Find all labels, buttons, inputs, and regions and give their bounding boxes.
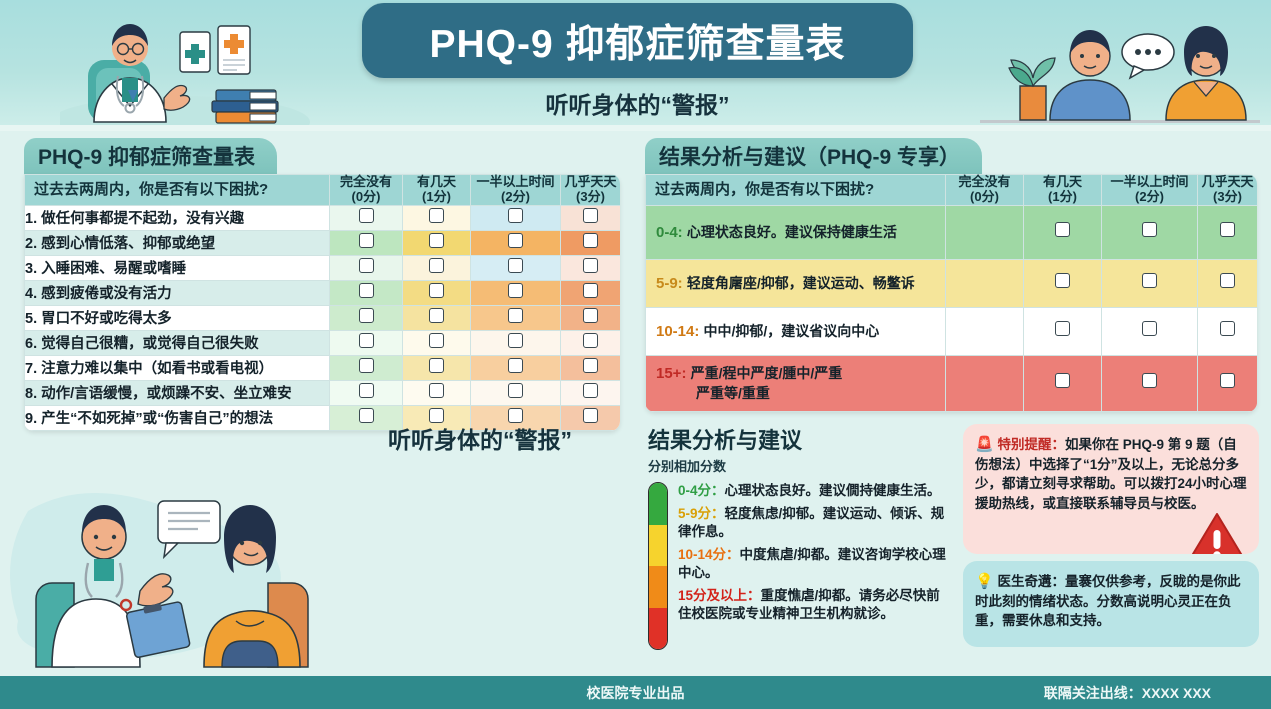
checkbox-cell[interactable]: [471, 380, 561, 405]
result-checkbox-cell[interactable]: [1024, 259, 1102, 307]
checkbox-icon[interactable]: [429, 383, 444, 398]
checkbox-icon[interactable]: [583, 308, 598, 323]
result-checkbox-cell[interactable]: [1024, 355, 1102, 411]
table-row: 1. 做任何事都提不起劲，没有兴趣: [25, 205, 621, 230]
left-panel-title: PHQ-9 抑郁症筛查量表: [38, 141, 255, 171]
result-score-range: 15+:: [656, 365, 691, 382]
checkbox-icon[interactable]: [508, 208, 523, 223]
result-checkbox-cell[interactable]: [1198, 355, 1258, 411]
result-checkbox-cell[interactable]: [1102, 355, 1198, 411]
checkbox-cell[interactable]: [471, 255, 561, 280]
question-text: 1. 做任何事都提不起劲，没有兴趣: [25, 205, 330, 230]
doctor-tip-box: 💡 医生奇遘：量褰仅供参考，反眬的是你此时此刻的情绪状态。分数高说明心灵正在负重…: [963, 561, 1259, 647]
phq9-question-table: 过去去两周内，你是否有以下困扰? 完全没有 (0分) 有几天 (1分) 一半以上…: [24, 174, 620, 431]
phq9-question-body: 1. 做任何事都提不起劲，没有兴趣2. 感到心情低落、抑郁或绝望3. 入睡困难、…: [25, 205, 621, 430]
result-blank-cell: [946, 205, 1024, 259]
checkbox-icon[interactable]: [508, 258, 523, 273]
checkbox-cell[interactable]: [403, 280, 471, 305]
result-blank-cell: [946, 259, 1024, 307]
analysis-body: 0-4分：心理状态良好。建议僩持健康生活。5-9分：轻度焦虑/抑郁。建议运动、倾…: [648, 482, 948, 650]
checkbox-icon[interactable]: [583, 383, 598, 398]
checkbox-cell[interactable]: [330, 380, 403, 405]
question-text: 7. 注意力难以集中（如看书或看电视）: [25, 355, 330, 380]
advice-text: 心理状态良好。建议僩持健康生活。: [725, 483, 941, 498]
checkbox-icon[interactable]: [429, 283, 444, 298]
checkbox-cell[interactable]: [403, 230, 471, 255]
advice-item: 0-4分：心理状态良好。建议僩持健康生活。: [678, 482, 948, 500]
checkbox-icon[interactable]: [508, 233, 523, 248]
question-text: 3. 入睡困难、易醒或嗜睡: [25, 255, 330, 280]
page-title: PHQ-9 抑郁症筛查量表: [429, 13, 845, 69]
advice-score-range: 15分及以上：: [678, 588, 761, 603]
header-score-2: 一半以上时间 (2分): [471, 175, 561, 206]
result-row: 5-9: 轻度角廜座/抑郁，建议运动、畅鳖诉: [646, 259, 1258, 307]
checkbox-icon[interactable]: [429, 208, 444, 223]
header-question: 过去去两周内，你是否有以下困扰?: [25, 175, 330, 206]
question-text: 4. 感到疲倦或没有活力: [25, 280, 330, 305]
left-table-wrap: 过去去两周内，你是否有以下困扰? 完全没有 (0分) 有几天 (1分) 一半以上…: [24, 174, 620, 431]
top-banner: PHQ-9 抑郁症筛查量表 听听身体的“警报”: [0, 0, 1271, 131]
lightbulb-icon: 💡: [975, 573, 994, 590]
header-score-0: 完全没有 (0分): [330, 175, 403, 206]
checkbox-icon[interactable]: [359, 283, 374, 298]
result-checkbox-cell[interactable]: [1198, 259, 1258, 307]
analysis-title: 结果分析与建议: [648, 423, 948, 455]
checkbox-icon[interactable]: [429, 308, 444, 323]
checkbox-icon[interactable]: [359, 208, 374, 223]
footer-right-text: 联隔关注出线：XXXX XXX: [1044, 683, 1211, 703]
checkbox-cell[interactable]: [403, 255, 471, 280]
checkbox-icon[interactable]: [1055, 273, 1070, 288]
severity-band: [649, 525, 667, 567]
table-header-row: 过去去两周内，你是否有以下困扰? 完全没有 (0分) 有几天 (1分) 一半以上…: [25, 175, 621, 206]
result-score-range: 5-9:: [656, 275, 687, 292]
checkbox-cell[interactable]: [561, 330, 621, 355]
checkbox-icon[interactable]: [508, 333, 523, 348]
checkbox-icon[interactable]: [1220, 373, 1235, 388]
result-checkbox-cell[interactable]: [1198, 205, 1258, 259]
footer-bar: 校医院专业出品 联隔关注出线：XXXX XXX: [0, 676, 1271, 709]
table-row: 2. 感到心情低落、抑郁或绝望: [25, 230, 621, 255]
result-checkbox-cell[interactable]: [1102, 259, 1198, 307]
result-header-score-0: 完全没有 (0分): [946, 175, 1024, 206]
result-description: 心理状态良好。建议保持健康生活: [687, 224, 897, 240]
checkbox-cell[interactable]: [471, 230, 561, 255]
checkbox-cell[interactable]: [330, 330, 403, 355]
header-score-3: 几乎天天 (3分): [561, 175, 621, 206]
special-warning-box: 🚨 特别提醒：如果你在 PHQ-9 第 9 题（自伤想法）中选择了“1分”及以上…: [963, 424, 1259, 554]
checkbox-cell[interactable]: [403, 355, 471, 380]
checkbox-cell[interactable]: [471, 205, 561, 230]
checkbox-icon[interactable]: [508, 308, 523, 323]
result-table: 过去两周内，你是否有以下困扰? 完全没有 (0分) 有几天 (1分) 一半以上时…: [645, 174, 1257, 412]
advice-item: 15分及以上：重度憔虐/抑都。请务必尽快前住校医院或专业精神卫生机构就诊。: [678, 587, 948, 623]
table-row: 6. 觉得自己很糟，或觉得自己很失败: [25, 330, 621, 355]
advice-score-range: 10-14分：: [678, 547, 740, 562]
result-description-line2: 严重等/重重: [656, 383, 939, 403]
result-label-cell: 15+: 严重/程中严度/腫中/严重严重等/重重: [646, 355, 946, 411]
checkbox-icon[interactable]: [583, 258, 598, 273]
two-people-talking-illustration: [980, 8, 1260, 130]
table-row: 7. 注意力难以集中（如看书或看电视）: [25, 355, 621, 380]
result-table-body: 0-4: 心理状态良好。建议保持健康生活5-9: 轻度角廜座/抑郁，建议运动、畅…: [646, 205, 1258, 411]
advice-score-range: 5-9分：: [678, 506, 725, 521]
result-checkbox-cell[interactable]: [1024, 205, 1102, 259]
right-panel-title: 结果分析与建议（PHQ-9 专享）: [659, 141, 960, 171]
question-text: 8. 动作/言语缓慢，或烦躁不安、坐立难安: [25, 380, 330, 405]
checkbox-icon[interactable]: [1055, 373, 1070, 388]
left-panel-tab: PHQ-9 抑郁症筛查量表: [24, 138, 277, 174]
checkbox-icon[interactable]: [359, 358, 374, 373]
checkbox-cell[interactable]: [403, 305, 471, 330]
checkbox-cell[interactable]: [561, 380, 621, 405]
checkbox-icon[interactable]: [359, 308, 374, 323]
question-text: 6. 觉得自己很糟，或觉得自己很失败: [25, 330, 330, 355]
checkbox-icon[interactable]: [359, 333, 374, 348]
checkbox-cell[interactable]: [471, 355, 561, 380]
checkbox-icon[interactable]: [359, 383, 374, 398]
checkbox-icon[interactable]: [1142, 222, 1157, 237]
checkbox-cell[interactable]: [330, 230, 403, 255]
checkbox-cell[interactable]: [330, 205, 403, 230]
checkbox-icon[interactable]: [1055, 222, 1070, 237]
checkbox-cell[interactable]: [561, 305, 621, 330]
checkbox-icon[interactable]: [429, 333, 444, 348]
checkbox-cell[interactable]: [330, 305, 403, 330]
checkbox-icon[interactable]: [583, 333, 598, 348]
result-label-cell: 0-4: 心理状态良好。建议保持健康生活: [646, 205, 946, 259]
right-panel-tab: 结果分析与建议（PHQ-9 专享）: [645, 138, 982, 174]
checkbox-cell[interactable]: [330, 355, 403, 380]
checkbox-cell[interactable]: [561, 355, 621, 380]
result-header-score-3: 几乎天天 (3分): [1198, 175, 1258, 206]
result-header-row: 过去两周内，你是否有以下困扰? 完全没有 (0分) 有几天 (1分) 一半以上时…: [646, 175, 1258, 206]
doctor-tip-text: 💡 医生奇遘：量褰仅供参考，反眬的是你此时此刻的情绪状态。分数高说明心灵正在负重…: [975, 571, 1247, 631]
checkbox-icon[interactable]: [359, 258, 374, 273]
checkbox-icon[interactable]: [1142, 321, 1157, 336]
checkbox-cell[interactable]: [561, 230, 621, 255]
result-row: 10-14: 中中/抑郁/，建议省议向中心: [646, 307, 1258, 355]
checkbox-icon[interactable]: [1142, 373, 1157, 388]
checkbox-cell[interactable]: [471, 305, 561, 330]
checkbox-cell[interactable]: [561, 255, 621, 280]
checkbox-cell[interactable]: [403, 380, 471, 405]
result-description: 轻度角廜座/抑郁，建议运动、畅鳖诉: [687, 275, 915, 291]
result-row: 0-4: 心理状态良好。建议保持健康生活: [646, 205, 1258, 259]
doctor-desk-illustration: [60, 4, 320, 129]
checkbox-icon[interactable]: [429, 358, 444, 373]
checkbox-icon[interactable]: [1055, 321, 1070, 336]
center-caption: 听听身体的“警报”: [340, 421, 620, 455]
checkbox-cell[interactable]: [330, 280, 403, 305]
checkbox-cell[interactable]: [561, 205, 621, 230]
result-label-cell: 5-9: 轻度角廜座/抑郁，建议运动、畅鳖诉: [646, 259, 946, 307]
checkbox-icon[interactable]: [1220, 273, 1235, 288]
advice-item: 10-14分：中度焦虐/抑都。建议咨询学校心理中心。: [678, 546, 948, 582]
checkbox-icon[interactable]: [1220, 321, 1235, 336]
result-row: 15+: 严重/程中严度/腫中/严重严重等/重重: [646, 355, 1258, 411]
header-score-1: 有几天 (1分): [403, 175, 471, 206]
result-score-range: 0-4:: [656, 224, 687, 241]
severity-band: [649, 608, 667, 650]
checkbox-icon[interactable]: [1220, 222, 1235, 237]
severity-gradient-bar: [648, 482, 668, 650]
result-checkbox-cell[interactable]: [1102, 307, 1198, 355]
advice-item: 5-9分：轻度焦虑/抑郁。建议运动、倾诉、规律作息。: [678, 505, 948, 541]
page-title-plate: PHQ-9 抑郁症筛查量表: [362, 3, 913, 78]
result-header-question: 过去两周内，你是否有以下困扰?: [646, 175, 946, 206]
checkbox-icon[interactable]: [508, 358, 523, 373]
right-table-wrap: 过去两周内，你是否有以下困扰? 完全没有 (0分) 有几天 (1分) 一半以上时…: [645, 174, 1257, 412]
checkbox-cell[interactable]: [403, 330, 471, 355]
checkbox-icon[interactable]: [583, 208, 598, 223]
checkbox-icon[interactable]: [583, 233, 598, 248]
advice-list: 0-4分：心理状态良好。建议僩持健康生活。5-9分：轻度焦虑/抑郁。建议运动、倾…: [678, 482, 948, 650]
analysis-subtitle: 分别相加分数: [648, 456, 948, 475]
result-score-range: 10-14:: [656, 323, 704, 340]
checkbox-icon[interactable]: [583, 358, 598, 373]
result-header-score-2: 一半以上时间 (2分): [1102, 175, 1198, 206]
main-content: PHQ-9 抑郁症筛查量表 过去去两周内，你是否有以下困扰? 完全没有 (0分): [0, 131, 1271, 676]
question-text: 9. 产生“不如死掉”或“伤害自己”的想法: [25, 405, 330, 430]
checkbox-icon[interactable]: [429, 233, 444, 248]
checkbox-icon[interactable]: [359, 233, 374, 248]
checkbox-icon[interactable]: [429, 258, 444, 273]
special-warning-text: 🚨 特别提醒：如果你在 PHQ-9 第 9 题（自伤想法）中选择了“1分”及以上…: [975, 434, 1247, 513]
severity-band: [649, 483, 667, 525]
warning-triangle-icon: [1185, 510, 1249, 554]
checkbox-icon[interactable]: [508, 383, 523, 398]
result-description: 中中/抑郁/，建议省议向中心: [704, 323, 880, 339]
table-row: 4. 感到疲倦或没有活力: [25, 280, 621, 305]
result-description: 严重/程中严度/腫中/严重: [691, 365, 843, 381]
checkbox-cell[interactable]: [471, 280, 561, 305]
result-checkbox-cell[interactable]: [1102, 205, 1198, 259]
siren-icon: 🚨: [975, 436, 994, 453]
result-header-score-1: 有几天 (1分): [1024, 175, 1102, 206]
result-blank-cell: [946, 355, 1024, 411]
analysis-block: 结果分析与建议 分别相加分数 0-4分：心理状态良好。建议僩持健康生活。5-9分…: [648, 423, 948, 650]
question-text: 5. 胃口不好或吃得太多: [25, 305, 330, 330]
advice-score-range: 0-4分：: [678, 483, 725, 498]
table-row: 3. 入睡困难、易醒或嗜睡: [25, 255, 621, 280]
page-subtitle: 听听身体的“警报”: [362, 86, 913, 120]
checkbox-cell[interactable]: [403, 205, 471, 230]
result-checkbox-cell[interactable]: [1024, 307, 1102, 355]
severity-band: [649, 566, 667, 608]
consultation-illustration: [8, 471, 338, 671]
question-text: 2. 感到心情低落、抑郁或绝望: [25, 230, 330, 255]
result-label-cell: 10-14: 中中/抑郁/，建议省议向中心: [646, 307, 946, 355]
checkbox-icon[interactable]: [508, 283, 523, 298]
table-row: 8. 动作/言语缓慢，或烦躁不安、坐立难安: [25, 380, 621, 405]
result-blank-cell: [946, 307, 1024, 355]
checkbox-cell[interactable]: [471, 330, 561, 355]
checkbox-icon[interactable]: [583, 283, 598, 298]
checkbox-icon[interactable]: [1142, 273, 1157, 288]
result-checkbox-cell[interactable]: [1198, 307, 1258, 355]
checkbox-cell[interactable]: [561, 280, 621, 305]
checkbox-cell[interactable]: [330, 255, 403, 280]
table-row: 5. 胃口不好或吃得太多: [25, 305, 621, 330]
